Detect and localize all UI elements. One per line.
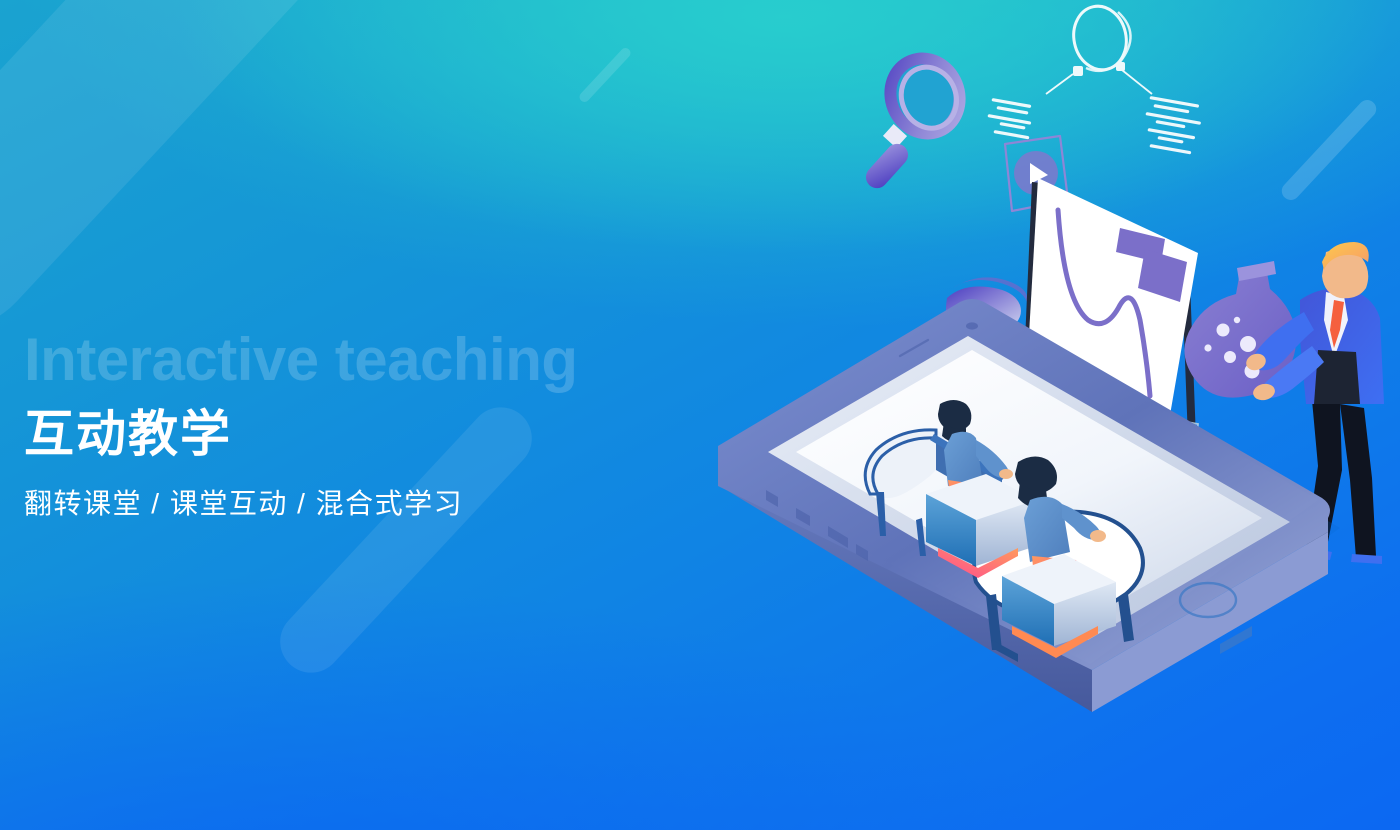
text-lines-left: [987, 98, 1031, 139]
text-lines-right: [1145, 96, 1201, 154]
hero-illustration: [700, 0, 1400, 830]
idea-ring-icon: [987, 1, 1201, 154]
hero-banner: Interactive teaching 互动教学 翻转课堂 / 课堂互动 / …: [0, 0, 1400, 830]
page-title: 互动教学: [24, 408, 578, 461]
hero-text-block: Interactive teaching 互动教学 翻转课堂 / 课堂互动 / …: [24, 330, 578, 521]
hero-ghost-title: Interactive teaching: [24, 330, 578, 390]
hero-subtitle: 翻转课堂 / 课堂互动 / 混合式学习: [24, 487, 578, 521]
magnifier-icon: [861, 40, 978, 192]
